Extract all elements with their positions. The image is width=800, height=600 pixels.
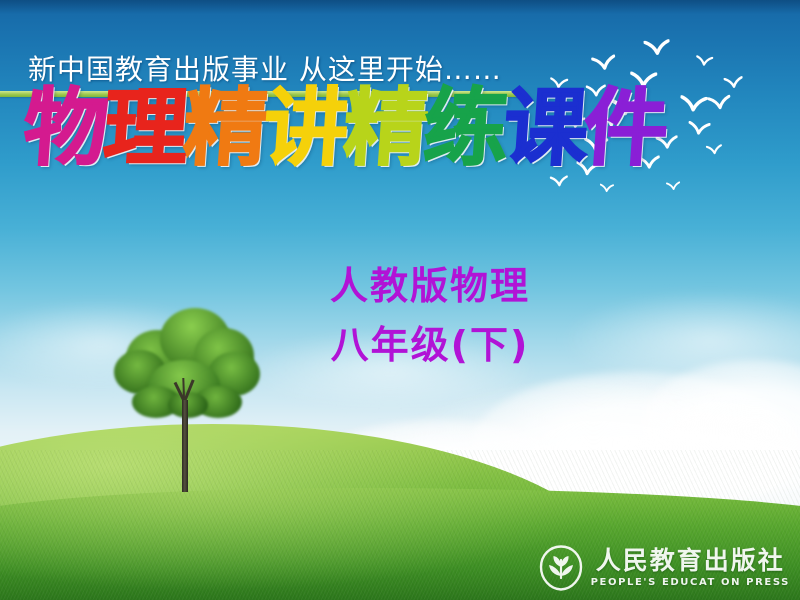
slide-title-char-7: 课 <box>501 86 591 170</box>
sprout-shield-emblem-icon <box>539 545 583 591</box>
bird-icon <box>643 39 670 57</box>
subtitle-line-1: 人教版物理 <box>300 262 560 311</box>
bird-icon <box>679 95 707 114</box>
bird-icon <box>695 53 713 65</box>
slide-title-char-2: 理 <box>101 86 191 170</box>
bird-icon <box>687 121 710 137</box>
slide-title: 物理精讲精练课件 <box>24 86 664 170</box>
bird-icon <box>723 75 743 89</box>
tree-trunk <box>182 400 188 492</box>
publisher-logo: 人民教育出版社 PEOPLE'S EDUCAT ON PRESS <box>539 545 790 591</box>
publisher-logo-text: 人民教育出版社 PEOPLE'S EDUCAT ON PRESS <box>591 548 790 588</box>
tree <box>112 302 262 492</box>
bird-icon <box>707 95 732 112</box>
bird-icon <box>600 180 614 189</box>
slide-title-char-4: 讲 <box>261 86 351 170</box>
sky-top-shading <box>0 0 800 14</box>
slide-title-char-1: 物 <box>21 86 111 170</box>
presentation-slide: 新中国教育出版事业 从这里开始…… 物理精讲精练课件 人教版物理 八年级(下) … <box>0 0 800 600</box>
subtitle-block: 人教版物理 八年级(下) <box>300 262 560 369</box>
slide-title-char-5: 精 <box>341 86 431 170</box>
slide-title-char-8: 件 <box>581 86 671 170</box>
publisher-name-en: PEOPLE'S EDUCAT ON PRESS <box>591 577 790 588</box>
bird-icon <box>666 177 681 187</box>
subtitle-line-2: 八年级(下) <box>300 321 560 370</box>
publisher-name-cn: 人民教育出版社 <box>596 548 785 574</box>
bird-icon <box>706 141 723 153</box>
bird-icon <box>591 54 617 72</box>
slide-title-char-6: 练 <box>421 86 511 170</box>
slide-title-char-3: 精 <box>181 86 271 170</box>
